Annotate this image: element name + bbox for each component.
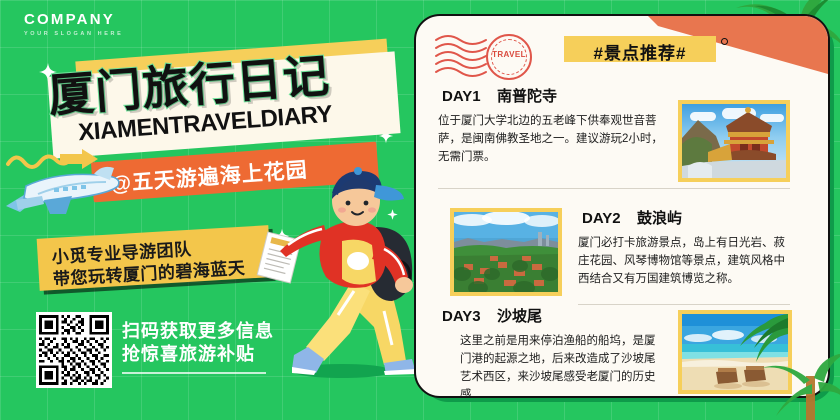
day-place-name: 沙坡尾: [497, 308, 542, 325]
day-thumbnail[interactable]: [678, 100, 790, 182]
qr-caption-line-1: 扫码获取更多信息: [122, 320, 274, 343]
day-place-name: 南普陀寺: [497, 88, 557, 105]
company-slogan: YOUR SLOGAN HERE: [24, 32, 123, 38]
palm-tree-bottom: [754, 354, 840, 420]
day-title: DAY3 沙坡尾: [438, 308, 546, 325]
section-heading-text: #景点推荐#: [564, 39, 716, 64]
company-logo: COMPANY YOUR SLOGAN HERE: [24, 12, 123, 38]
day-label: DAY1: [442, 88, 481, 105]
company-name: COMPANY: [24, 12, 123, 27]
poster-canvas: 觅知网 觅知网 觅知网 觅知网 觅知网 COMPANY YOUR SLOGAN …: [0, 0, 840, 420]
section-heading: #景点推荐#: [564, 36, 716, 62]
day-description: 厦门必打卡旅游景点，岛上有日光岩、菽庄花园、风琴博物馆等景点，建筑风格中西结合又…: [578, 234, 792, 288]
day-thumbnail[interactable]: [450, 208, 562, 296]
day-label: DAY3: [442, 308, 481, 325]
travel-stamp: TRAVEL: [434, 30, 552, 84]
day-label: DAY2: [582, 210, 621, 227]
qr-caption: 扫码获取更多信息 抢惊喜旅游补贴: [122, 320, 274, 366]
day-description: 这里之前是用来停泊渔船的船坞，是厦门港的起源之地，后来改造成了沙坡尾艺术西区，来…: [460, 332, 666, 398]
day-place-name: 鼓浪屿: [637, 210, 682, 227]
day-description: 位于厦门大学北边的五老峰下供奉观世音菩萨，是闽南佛教圣地之一。建议游玩2小时，无…: [438, 112, 668, 166]
stamp-label: TRAVEL: [486, 50, 532, 59]
day-divider: [438, 188, 790, 189]
thumbnail-image-chinese-temple: [682, 104, 786, 178]
day-title: DAY2 鼓浪屿: [578, 210, 686, 227]
day-title: DAY1 南普陀寺: [438, 88, 561, 105]
qr-caption-line-2: 抢惊喜旅游补贴: [122, 343, 274, 366]
airplane-illustration: [0, 160, 124, 226]
qr-caption-underline: [122, 372, 266, 374]
qr-code[interactable]: [36, 312, 112, 388]
qr-code-pattern: [39, 315, 109, 385]
section-heading-dot: [721, 38, 728, 45]
content-panel: TRAVEL #景点推荐# DAY1 南普陀寺 位于厦门大学北边的五老峰下供奉观…: [414, 14, 830, 398]
day-divider: [578, 304, 790, 305]
thumbnail-image-island-aerial-view: [454, 212, 558, 292]
